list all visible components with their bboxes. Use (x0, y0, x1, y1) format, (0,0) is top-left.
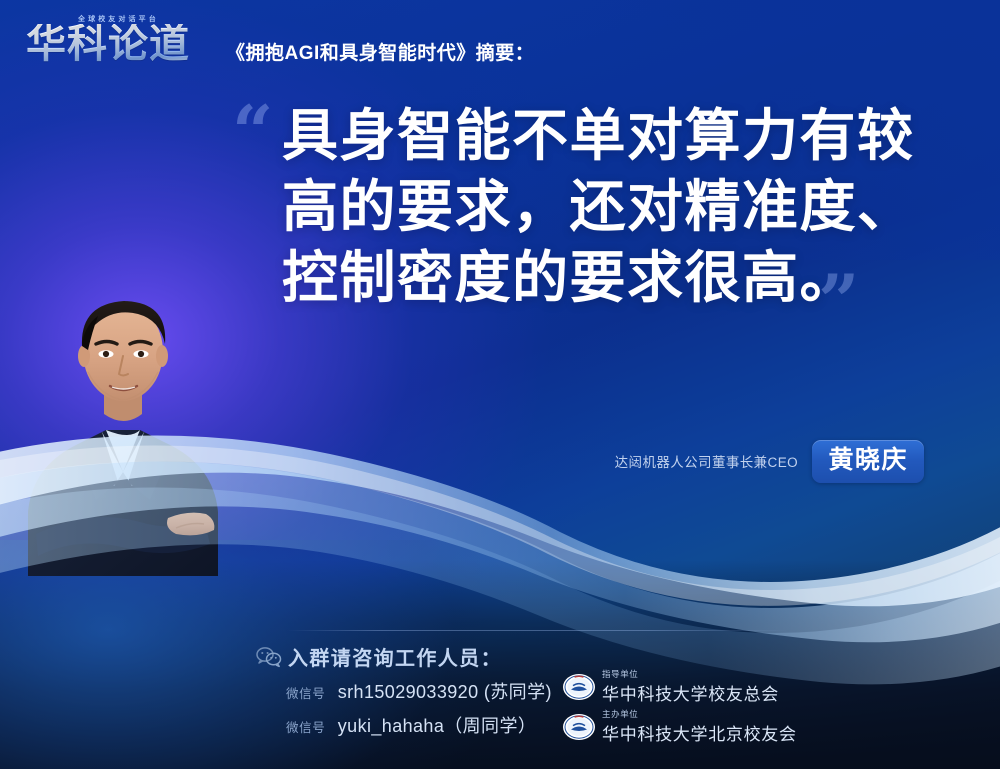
quote-line: 控制密度的要求很高。 (282, 242, 962, 313)
university-seal-icon (562, 673, 596, 701)
contact-value: yuki_hahaha（周同学） (338, 716, 536, 736)
poster-header: 全球校友对话平台 华科论道 《拥抱AGI和具身智能时代》摘要： (0, 0, 1000, 90)
poster-footer: 入群请咨询工作人员： 微信号 srh15029033920 (苏同学) 微信号 … (0, 618, 1000, 769)
footer-divider (288, 630, 788, 631)
contact-label: 微信号 (286, 721, 325, 735)
brand-logo: 全球校友对话平台 华科论道 (26, 14, 212, 74)
university-seal-icon (562, 713, 596, 741)
wechat-icon (256, 646, 282, 668)
contact-value: srh15029033920 (苏同学) (338, 682, 552, 702)
contact-row: 微信号 yuki_hahaha（周同学） (286, 712, 536, 738)
speaker-name-badge: 黄晓庆 (812, 440, 924, 483)
speaker-role: 达闼机器人公司董事长兼CEO (615, 451, 798, 471)
organization-name: 华中科技大学校友总会 (602, 680, 779, 705)
organization-role: 指导单位 (602, 668, 638, 680)
session-subtitle: 《拥抱AGI和具身智能时代》摘要： (226, 38, 534, 65)
speaker-attribution: 达闼机器人公司董事长兼CEO 黄晓庆 (600, 440, 910, 482)
quote-close-mark: ” (818, 272, 859, 330)
contact-label: 微信号 (286, 687, 325, 701)
poster-canvas: 全球校友对话平台 华科论道 《拥抱AGI和具身智能时代》摘要： “ 具身智能不单… (0, 0, 1000, 769)
quote-open-mark: “ (232, 103, 273, 161)
organization-role: 主办单位 (602, 708, 638, 720)
organization-name: 华中科技大学北京校友会 (602, 720, 797, 745)
brand-logo-text: 华科论道 (26, 24, 190, 64)
quote-line: 具身智能不单对算力有较 (282, 100, 962, 171)
quote-line: 高的要求，还对精准度、 (282, 171, 962, 242)
quote-text: 具身智能不单对算力有较 高的要求，还对精准度、 控制密度的要求很高。 (282, 100, 962, 313)
contact-row: 微信号 srh15029033920 (苏同学) (286, 678, 552, 704)
footer-heading: 入群请咨询工作人员： (288, 642, 502, 671)
